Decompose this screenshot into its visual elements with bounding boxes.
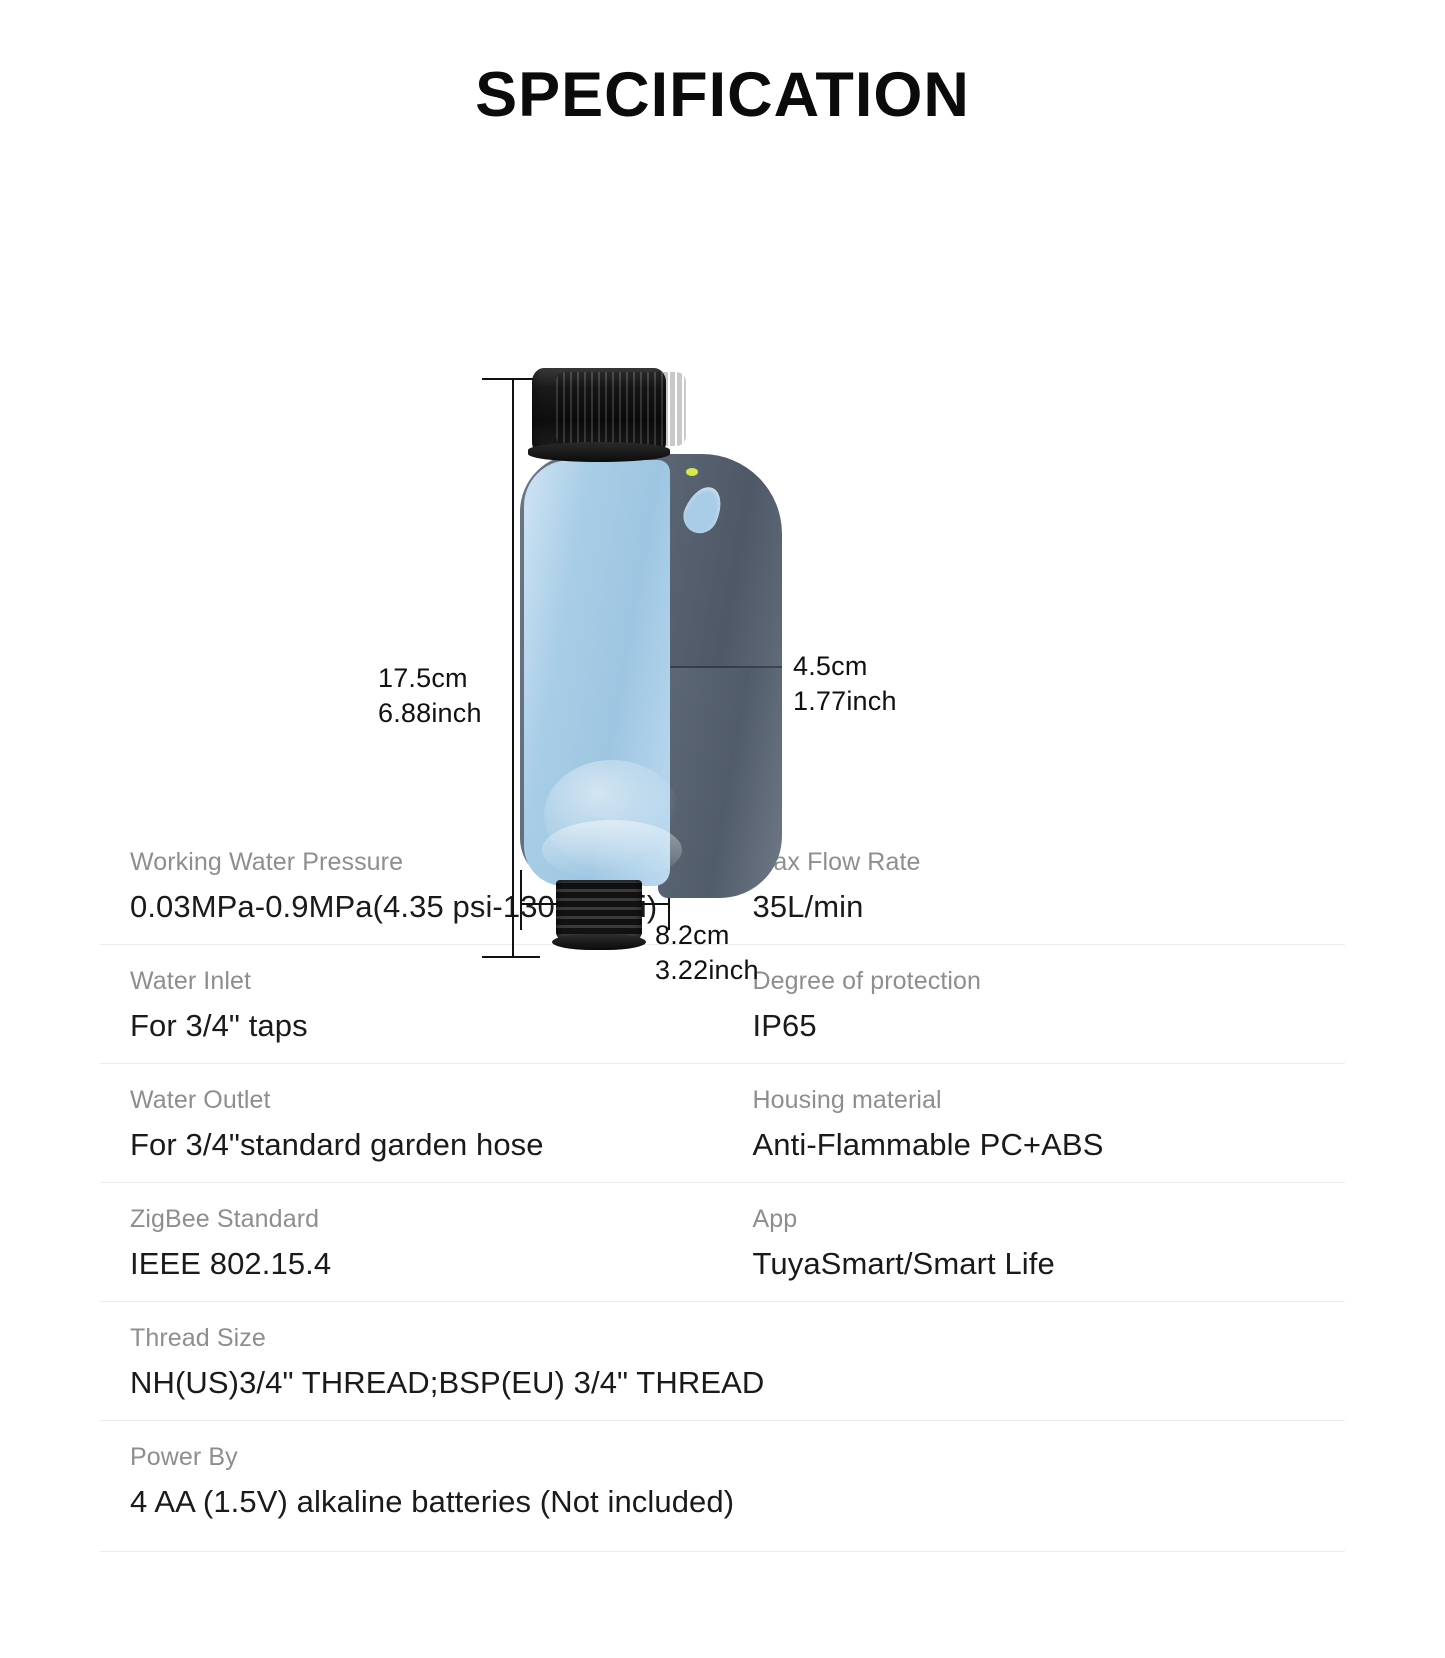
- spec-label: ZigBee Standard: [130, 1201, 723, 1239]
- product-illustration: 17.5cm6.88inch 4.5cm1.77inch 8.2cm3.22in…: [0, 146, 1445, 826]
- depth-cm: 4.5cm: [793, 651, 868, 681]
- outlet-end-ring: [552, 934, 646, 950]
- table-row: Water Outlet For 3/4"standard garden hos…: [100, 1063, 1345, 1182]
- spec-value: NH(US)3/4" THREAD;BSP(EU) 3/4" THREAD: [130, 1360, 1345, 1407]
- spec-value: For 3/4" taps: [130, 1003, 723, 1050]
- width-cm: 8.2cm: [655, 920, 730, 950]
- spec-label: Power By: [130, 1439, 1345, 1477]
- spec-label: Max Flow Rate: [753, 844, 1346, 882]
- spec-cell-thread-size: Thread Size NH(US)3/4" THREAD;BSP(EU) 3/…: [100, 1320, 1345, 1406]
- spec-cell-degree-of-protection: Degree of protection IP65: [723, 963, 1346, 1049]
- spec-label: Water Outlet: [130, 1082, 723, 1120]
- depth-inch: 1.77inch: [793, 686, 897, 716]
- spec-label: Thread Size: [130, 1320, 1345, 1358]
- height-inch: 6.88inch: [378, 698, 482, 728]
- panel-highlight-lower: [542, 820, 682, 880]
- nut-base-ring: [528, 442, 670, 462]
- page-title: SPECIFICATION: [0, 0, 1445, 128]
- spec-cell-housing-material: Housing material Anti-Flammable PC+ABS: [723, 1082, 1346, 1168]
- spec-cell-power-by: Power By 4 AA (1.5V) alkaline batteries …: [100, 1439, 1345, 1525]
- spec-cell-water-outlet: Water Outlet For 3/4"standard garden hos…: [100, 1082, 723, 1168]
- width-inch: 3.22inch: [655, 955, 759, 985]
- table-row: ZigBee Standard IEEE 802.15.4 App TuyaSm…: [100, 1182, 1345, 1301]
- spec-value: IP65: [753, 1003, 1346, 1050]
- water-timer-device: [510, 368, 810, 968]
- device-battery-compartment: [658, 668, 782, 898]
- spec-value: For 3/4"standard garden hose: [130, 1122, 723, 1169]
- device-front-panel: [524, 460, 670, 886]
- threaded-outlet: [556, 880, 642, 940]
- width-dimension-label: 8.2cm3.22inch: [655, 918, 759, 987]
- spec-label: Housing material: [753, 1082, 1346, 1120]
- height-cm: 17.5cm: [378, 663, 468, 693]
- spec-value: 4 AA (1.5V) alkaline batteries (Not incl…: [130, 1479, 1345, 1526]
- spec-cell-zigbee-standard: ZigBee Standard IEEE 802.15.4: [100, 1201, 723, 1287]
- table-row: Power By 4 AA (1.5V) alkaline batteries …: [100, 1420, 1345, 1552]
- spec-cell-app: App TuyaSmart/Smart Life: [723, 1201, 1346, 1287]
- spec-value: IEEE 802.15.4: [130, 1241, 723, 1288]
- spec-cell-water-inlet: Water Inlet For 3/4" taps: [100, 963, 723, 1049]
- spec-cell-max-flow-rate: Max Flow Rate 35L/min: [723, 844, 1346, 930]
- spec-label: App: [753, 1201, 1346, 1239]
- device-seam-line: [660, 666, 782, 668]
- depth-dimension-label: 4.5cm1.77inch: [793, 649, 897, 718]
- spec-value: Anti-Flammable PC+ABS: [753, 1122, 1346, 1169]
- nut-grip-ribs: [556, 372, 686, 446]
- spec-label: Water Inlet: [130, 963, 723, 1001]
- table-row: Thread Size NH(US)3/4" THREAD;BSP(EU) 3/…: [100, 1301, 1345, 1420]
- specification-page: SPECIFICATION: [0, 0, 1445, 1658]
- spec-label: Degree of protection: [753, 963, 1346, 1001]
- spec-value: 35L/min: [753, 884, 1346, 931]
- height-dimension-label: 17.5cm6.88inch: [378, 661, 482, 730]
- spec-value: TuyaSmart/Smart Life: [753, 1241, 1346, 1288]
